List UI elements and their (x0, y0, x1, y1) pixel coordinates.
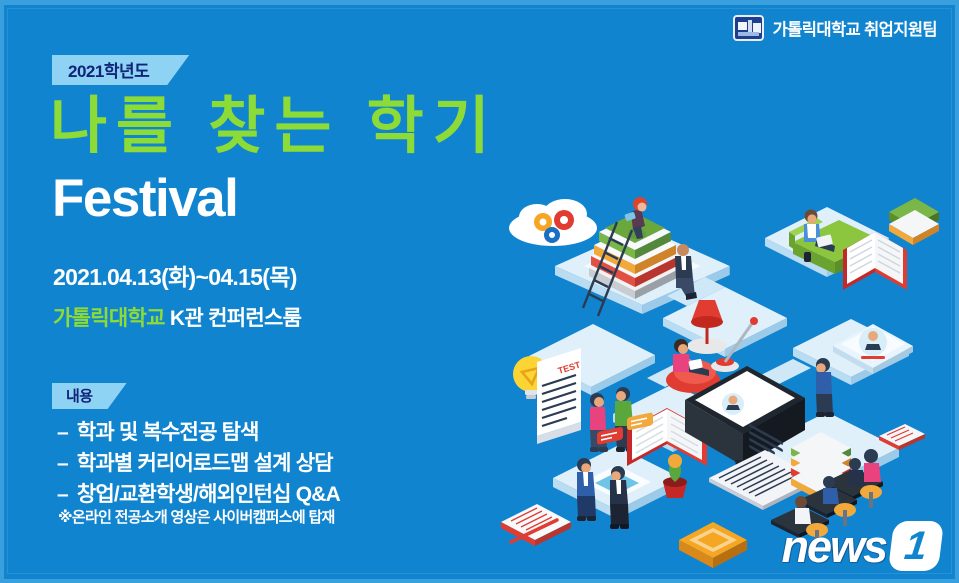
watermark-badge: 1 (888, 521, 944, 571)
year-badge: 2021학년도 (52, 55, 189, 85)
content-list: – 학과 및 복수전공 탐색 – 학과별 커리어로드맵 설계 상담 – 창업/교… (57, 418, 340, 511)
organization-name: 가톨릭대학교 취업지원팀 (773, 16, 937, 40)
list-bullet-dash: – (57, 449, 68, 480)
list-bullet-dash: – (57, 418, 68, 449)
news1-watermark: news 1 (781, 521, 941, 571)
content-note: ※온라인 전공소개 영상은 사이버캠퍼스에 탑재 (58, 506, 335, 527)
list-item-label: 학과별 커리어로드맵 설계 상담 (77, 449, 333, 480)
list-item: – 학과별 커리어로드맵 설계 상담 (57, 449, 340, 480)
watermark-text: news (781, 524, 886, 569)
organization-logo: 가톨릭대학교 취업지원팀 (733, 15, 937, 41)
venue-room: K관 컨퍼런스룸 (170, 307, 301, 330)
event-venue: 가톨릭대학교 K관 컨퍼런스룸 (53, 302, 301, 332)
venue-organization: 가톨릭대학교 (53, 307, 165, 330)
list-item: – 학과 및 복수전공 탐색 (57, 418, 340, 449)
headline-korean: 나를 찾는 학기 (50, 95, 499, 158)
event-date: 2021.04.13(화)~04.15(목) (53, 258, 297, 292)
university-emblem-icon (733, 15, 764, 41)
content-badge: 내용 (52, 383, 127, 409)
poster-canvas: 가톨릭대학교 취업지원팀 2021학년도 나를 찾는 학기 Festival 2… (0, 0, 959, 583)
headline-english: Festival (52, 172, 237, 225)
list-item-label: 학과 및 복수전공 탐색 (77, 418, 259, 449)
